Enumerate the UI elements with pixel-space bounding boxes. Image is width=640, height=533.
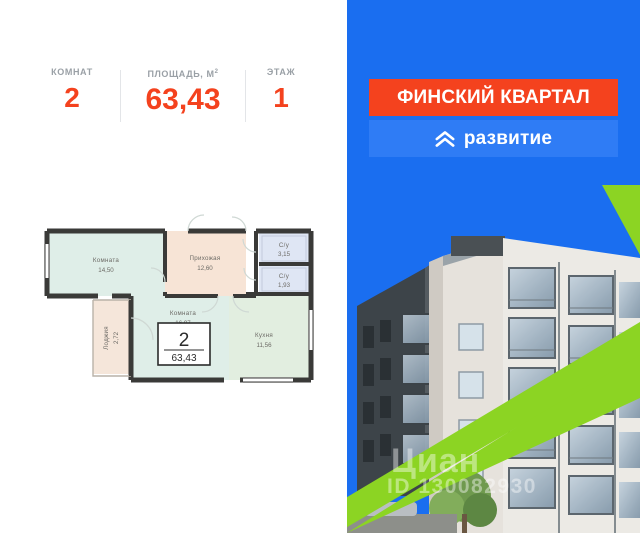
room-label-5: Комната [170,310,197,317]
double-chevron-up-icon [435,130,455,148]
badge-area: 63,43 [171,353,196,364]
room-area-2: 3,15 [278,251,291,258]
developer-bar: развитие [369,120,618,157]
room-label-6: Кухня [255,332,273,339]
building-photo [347,196,640,533]
room-area-6: 11,56 [256,342,272,349]
floor-plan: Комната 14,50 Прихожая 12,60 С/у 3,15 С/… [28,200,318,395]
apartment-stats: КОМНАТ 2 ПЛОЩАДЬ, М2 63,43 ЭТАЖ 1 [24,66,324,128]
brand-logo[interactable]: ФИНСКИЙ КВАРТАЛ развитие [369,79,618,157]
listing-card: КОМНАТ 2 ПЛОЩАДЬ, М2 63,43 ЭТАЖ 1 [0,0,640,533]
brand-title: ФИНСКИЙ КВАРТАЛ [397,87,590,109]
stat-floor-label: ЭТАЖ [267,66,295,78]
stat-area: ПЛОЩАДЬ, М2 63,43 [121,66,245,117]
stat-area-label-sup: 2 [215,69,219,75]
stat-floor: ЭТАЖ 1 [246,66,316,115]
stat-area-label-text: ПЛОЩАДЬ, М [147,69,214,79]
plan-summary-badge: 2 63,43 [158,323,210,365]
left-info-panel: КОМНАТ 2 ПЛОЩАДЬ, М2 63,43 ЭТАЖ 1 [0,0,347,533]
developer-name: развитие [464,128,552,150]
stat-rooms-value: 2 [64,81,80,115]
room-label-4: Лоджия [103,326,110,350]
badge-rooms: 2 [179,330,190,351]
stat-area-value: 63,43 [145,83,220,117]
brand-title-bar: ФИНСКИЙ КВАРТАЛ [369,79,618,116]
right-brand-panel: Циан ID 130082930 ФИНСКИЙ КВАРТАЛ развит… [347,0,640,533]
stat-area-label: ПЛОЩАДЬ, М2 [147,66,218,80]
stat-floor-value: 1 [273,81,289,115]
room-area-4: 2,72 [113,331,120,344]
room-area-0: 14,50 [98,267,114,274]
room-label-0: Комната [93,257,120,264]
room-label-1: Прихожая [189,255,220,262]
stat-rooms: КОМНАТ 2 [24,66,120,115]
room-label-3: С/у [279,273,290,280]
stat-rooms-label: КОМНАТ [51,66,93,78]
room-label-2: С/у [279,242,290,249]
room-area-3: 1,93 [278,282,291,289]
room-area-1: 12,60 [197,265,213,272]
